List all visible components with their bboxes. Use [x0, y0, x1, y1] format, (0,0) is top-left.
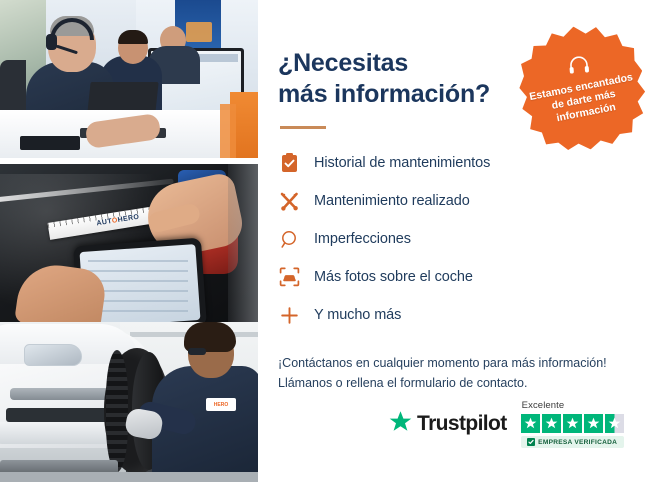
rating-stars: [521, 414, 624, 433]
list-item: Y mucho más: [278, 303, 626, 327]
feature-label: Imperfecciones: [314, 231, 411, 247]
trustpilot-rating-group: Excelente: [521, 400, 624, 448]
page-title: ¿Necesitas más información?: [278, 48, 508, 109]
agent2-hair-shape: [118, 30, 148, 44]
feature-label: Más fotos sobre el coche: [314, 269, 473, 285]
workshop-floor-shape: [0, 472, 258, 482]
orange-rack-shape-2: [220, 104, 236, 158]
info-poster: AUTOHERO: [0, 0, 650, 488]
mechanic-glasses-shape: [188, 348, 206, 355]
contact-line-2: Llámanos o rellena el formulario de cont…: [278, 376, 527, 390]
wall-poster-shape: [186, 22, 212, 42]
trustpilot-widget[interactable]: Trustpilot Excelente: [388, 400, 624, 448]
headline-line-2: más información?: [278, 80, 490, 108]
features-list: Historial de mantenimientos Mantenimient…: [278, 151, 626, 327]
call-center-agents-photo: [0, 0, 258, 158]
verified-business-badge: EMPRESA VERIFICADA: [521, 436, 624, 448]
list-item: Mantenimiento realizado: [278, 189, 626, 213]
photo-column: AUTOHERO: [0, 0, 258, 488]
contact-line-1: ¡Contáctanos en cualquier momento para m…: [278, 356, 607, 370]
car-headlight-shape: [24, 344, 82, 366]
star-icon-5-half: [605, 414, 624, 433]
mechanic-wheel-photo: HERO: [0, 322, 258, 482]
contact-paragraph: ¡Contáctanos en cualquier momento para m…: [278, 353, 618, 394]
trustpilot-wordmark: Trustpilot: [417, 412, 507, 436]
tablet-shape: [20, 136, 80, 150]
star-icon-1: [521, 414, 540, 433]
car-scan-icon: [278, 266, 300, 288]
uniform-logo-shape: HERO: [206, 398, 236, 411]
star-icon-4: [584, 414, 603, 433]
headline-line-1: ¿Necesitas: [278, 49, 408, 77]
car-grille-shape: [10, 388, 118, 400]
title-underline-divider: [280, 126, 326, 129]
rating-label: Excelente: [522, 400, 565, 411]
check-icon: [527, 438, 535, 446]
uniform-logo-text: HERO: [214, 402, 228, 408]
content-panel: ¿Necesitas más información? Historial de…: [258, 0, 650, 488]
feature-label: Historial de mantenimientos: [314, 155, 490, 171]
headset-icon: [567, 55, 591, 79]
magnifier-icon: [278, 228, 300, 250]
list-item: Historial de mantenimientos: [278, 151, 626, 175]
tools-icon: [278, 190, 300, 212]
tire-tread-shape: [106, 350, 128, 472]
list-item: Más fotos sobre el coche: [278, 265, 626, 289]
background-blur-shape: [228, 164, 258, 322]
verified-label: EMPRESA VERIFICADA: [538, 439, 617, 446]
starburst-badge: Estamos encantados de darte más informac…: [512, 18, 650, 158]
star-icon-3: [563, 414, 582, 433]
list-item: Imperfecciones: [278, 227, 626, 251]
trustpilot-star-icon: [388, 410, 413, 439]
vehicle-inspection-photo: AUTOHERO: [0, 164, 258, 322]
feature-label: Y mucho más: [314, 307, 401, 323]
clipboard-check-icon: [278, 152, 300, 174]
feature-label: Mantenimiento realizado: [314, 193, 470, 209]
trustpilot-logo: Trustpilot: [388, 410, 507, 439]
plus-icon: [278, 304, 300, 326]
star-icon-2: [542, 414, 561, 433]
headset-earcup-shape: [46, 34, 57, 50]
car-lower-grille-shape: [6, 408, 110, 422]
